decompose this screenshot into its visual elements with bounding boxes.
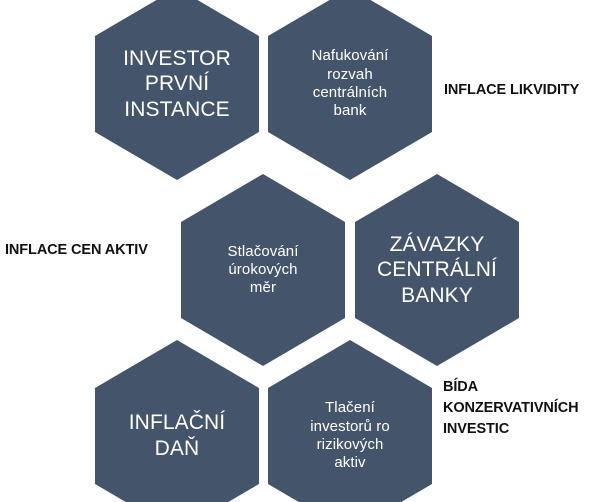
diagram-canvas: INVESTOR PRVNÍ INSTANCE Nafukování rozva…: [0, 0, 616, 502]
hexagon-inflacni-dan[interactable]: INFLAČNÍ DAŇ: [95, 340, 259, 502]
hexagon-label-stlacovani-urokovych-mer: Stlačování úrokových měr: [227, 243, 298, 298]
hexagon-label-tlaceni-investoru: Tlačení investorů ro rizikových aktiv: [310, 399, 390, 472]
hexagon-nafukovani-rozvah[interactable]: Nafukování rozvah centrálních bank: [268, 0, 432, 180]
side-label-inflace-likvidity: INFLACE LIKVIDITY: [444, 80, 579, 101]
hexagon-label-nafukovani-rozvah: Nafukování rozvah centrálních bank: [312, 47, 389, 120]
hexagon-label-inflacni-dan: INFLAČNÍ DAŇ: [129, 410, 225, 461]
hexagon-zavazky-centralni-banky[interactable]: ZÁVAZKY CENTRÁLNÍ BANKY: [355, 174, 519, 366]
hexagon-label-zavazky-centralni-banky: ZÁVAZKY CENTRÁLNÍ BANKY: [377, 232, 497, 309]
side-label-bida-konzervativnich-investic: BÍDA KONZERVATIVNÍCH INVESTIC: [443, 377, 578, 440]
hexagon-tlaceni-investoru[interactable]: Tlačení investorů ro rizikových aktiv: [268, 340, 432, 502]
hexagon-investor-prvni-instance[interactable]: INVESTOR PRVNÍ INSTANCE: [95, 0, 259, 180]
side-label-inflace-cen-aktiv: INFLACE CEN AKTIV: [5, 240, 148, 261]
hexagon-label-investor-prvni-instance: INVESTOR PRVNÍ INSTANCE: [123, 46, 231, 123]
hexagon-stlacovani-urokovych-mer[interactable]: Stlačování úrokových měr: [181, 174, 345, 366]
